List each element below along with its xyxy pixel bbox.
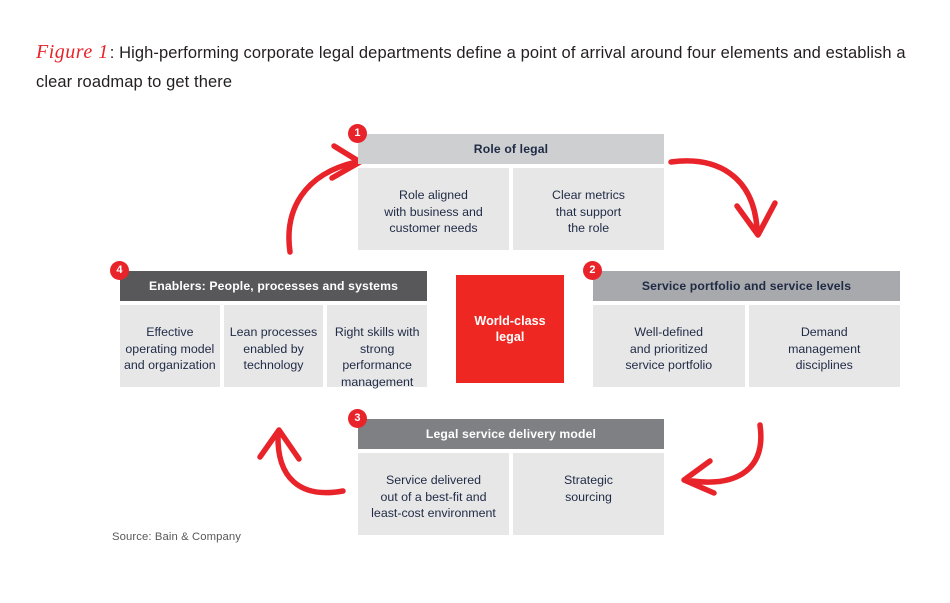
cell-strategic-sourcing[interactable]: Strategic sourcing — [513, 453, 664, 535]
group-delivery-cells: Service delivered out of a best-fit and … — [358, 453, 664, 535]
source-note: Source: Bain & Company — [112, 531, 241, 543]
core-world-class-legal[interactable]: World-class legal — [456, 275, 564, 383]
group-enablers[interactable]: 4 Enablers: People, processes and system… — [120, 271, 427, 387]
group-delivery-header: 3 Legal service delivery model — [358, 419, 664, 449]
badge-1: 1 — [348, 124, 367, 143]
group-service-header: 2 Service portfolio and service levels — [593, 271, 900, 301]
group-service-cells: Well-defined and prioritized service por… — [593, 305, 900, 387]
figure-title-block: Figure 1: High-performing corporate lega… — [36, 38, 908, 97]
cell-effective-operating-model[interactable]: Effective operating model and organizati… — [120, 305, 220, 387]
group-role-cells: Role aligned with business and customer … — [358, 168, 664, 250]
figure-number-label: Figure 1 — [36, 41, 110, 63]
group-legal-service-delivery[interactable]: 3 Legal service delivery model Service d… — [358, 419, 664, 535]
group-role-of-legal[interactable]: 1 Role of legal Role aligned with busine… — [358, 134, 664, 250]
core-label: World-class legal — [474, 313, 545, 345]
group-delivery-header-label: Legal service delivery model — [426, 427, 596, 441]
cell-demand-management[interactable]: Demand management disciplines — [749, 305, 901, 387]
cell-service-delivered[interactable]: Service delivered out of a best-fit and … — [358, 453, 509, 535]
group-role-header-label: Role of legal — [474, 142, 548, 156]
group-enablers-cells: Effective operating model and organizati… — [120, 305, 427, 387]
cell-role-aligned[interactable]: Role aligned with business and customer … — [358, 168, 509, 250]
cell-right-skills[interactable]: Right skills with strong performance man… — [327, 305, 427, 387]
figure-canvas: Figure 1: High-performing corporate lega… — [0, 0, 950, 603]
page-title: Figure 1: High-performing corporate lega… — [36, 38, 908, 97]
cell-clear-metrics[interactable]: Clear metrics that support the role — [513, 168, 664, 250]
group-enablers-header: 4 Enablers: People, processes and system… — [120, 271, 427, 301]
figure-title-text: High-performing corporate legal departme… — [36, 44, 906, 91]
badge-3: 3 — [348, 409, 367, 428]
group-enablers-header-label: Enablers: People, processes and systems — [149, 279, 398, 293]
group-service-portfolio[interactable]: 2 Service portfolio and service levels W… — [593, 271, 900, 387]
arrow-role-to-service-icon — [665, 140, 780, 260]
arrow-service-to-delivery-icon — [672, 425, 787, 525]
cell-well-defined-portfolio[interactable]: Well-defined and prioritized service por… — [593, 305, 745, 387]
group-role-header: 1 Role of legal — [358, 134, 664, 164]
arrow-delivery-to-enablers-icon — [255, 425, 370, 525]
cell-lean-processes[interactable]: Lean processes enabled by technology — [224, 305, 324, 387]
badge-4: 4 — [110, 261, 129, 280]
badge-2: 2 — [583, 261, 602, 280]
group-service-header-label: Service portfolio and service levels — [642, 279, 851, 293]
